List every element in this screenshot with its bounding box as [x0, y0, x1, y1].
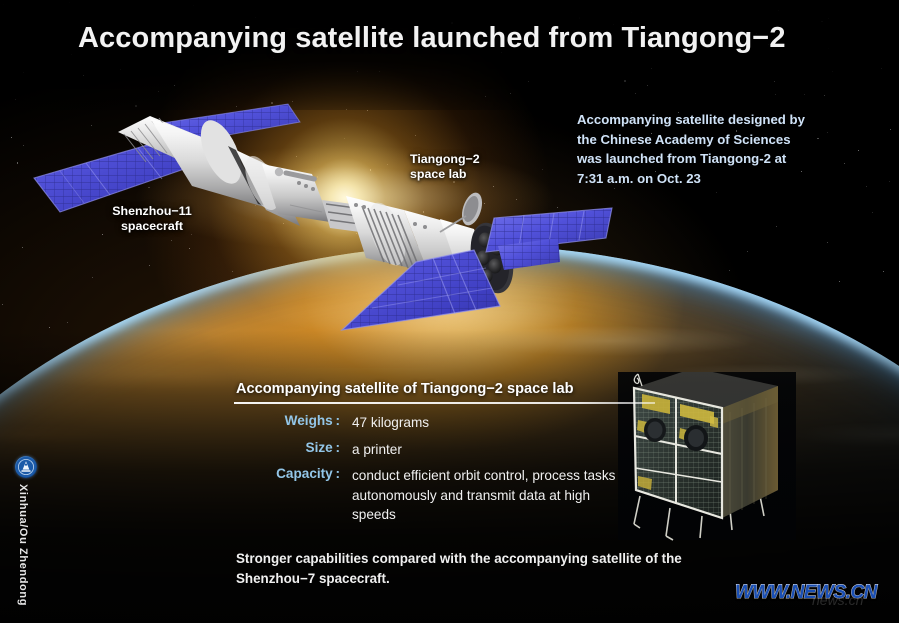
lede-paragraph: Accompanying satellite designed by the C… [577, 110, 887, 188]
spec-row: Weighs : 47 kilograms [236, 413, 656, 433]
satellite-spec-list: Weighs : 47 kilograms Size : a printer C… [236, 413, 656, 533]
spec-row: Capacity : conduct efficient orbit contr… [236, 466, 656, 525]
spec-key-weighs: Weighs : [236, 413, 340, 428]
spec-value-size: a printer [340, 440, 402, 460]
photo-credit: Xinhua/Ou Zhendong [17, 484, 29, 606]
label-tiangong-2-space-lab: Tiangong−2 space lab [410, 152, 504, 182]
spec-row: Size : a printer [236, 440, 656, 460]
lede-line-2: the Chinese Academy of Sciences [577, 130, 887, 150]
label-tiangong-line-2: space lab [410, 167, 504, 182]
label-shenzhou-line-1: Shenzhou−11 [98, 204, 206, 219]
footnote-text: Stronger capabilities compared with the … [236, 549, 736, 588]
footnote-line-2: Shenzhou−7 spacecraft. [236, 569, 736, 589]
label-shenzhou-11-spacecraft: Shenzhou−11 spacecraft [98, 204, 206, 234]
info-panel-heading: Accompanying satellite of Tiangong−2 spa… [236, 381, 574, 397]
spec-value-weighs: 47 kilograms [340, 413, 429, 433]
watermark-ghost: news.cn [812, 592, 863, 608]
footnote-line-1: Stronger capabilities compared with the … [236, 549, 736, 569]
lede-line-1: Accompanying satellite designed by [577, 110, 887, 130]
xinhua-emblem-icon [15, 456, 37, 478]
info-panel-underline [234, 402, 655, 404]
label-shenzhou-line-2: spacecraft [98, 219, 206, 234]
lede-line-4: 7:31 a.m. on Oct. 23 [577, 169, 887, 189]
page-title: Accompanying satellite launched from Tia… [78, 22, 786, 55]
spec-key-capacity: Capacity : [236, 466, 340, 481]
label-tiangong-line-1: Tiangong−2 [410, 152, 504, 167]
spec-key-size: Size : [236, 440, 340, 455]
spec-value-capacity: conduct efficient orbit control, process… [340, 466, 626, 525]
lede-line-3: was launched from Tiangong-2 at [577, 149, 887, 169]
infographic-canvas: Accompanying satellite launched from Tia… [0, 0, 899, 623]
